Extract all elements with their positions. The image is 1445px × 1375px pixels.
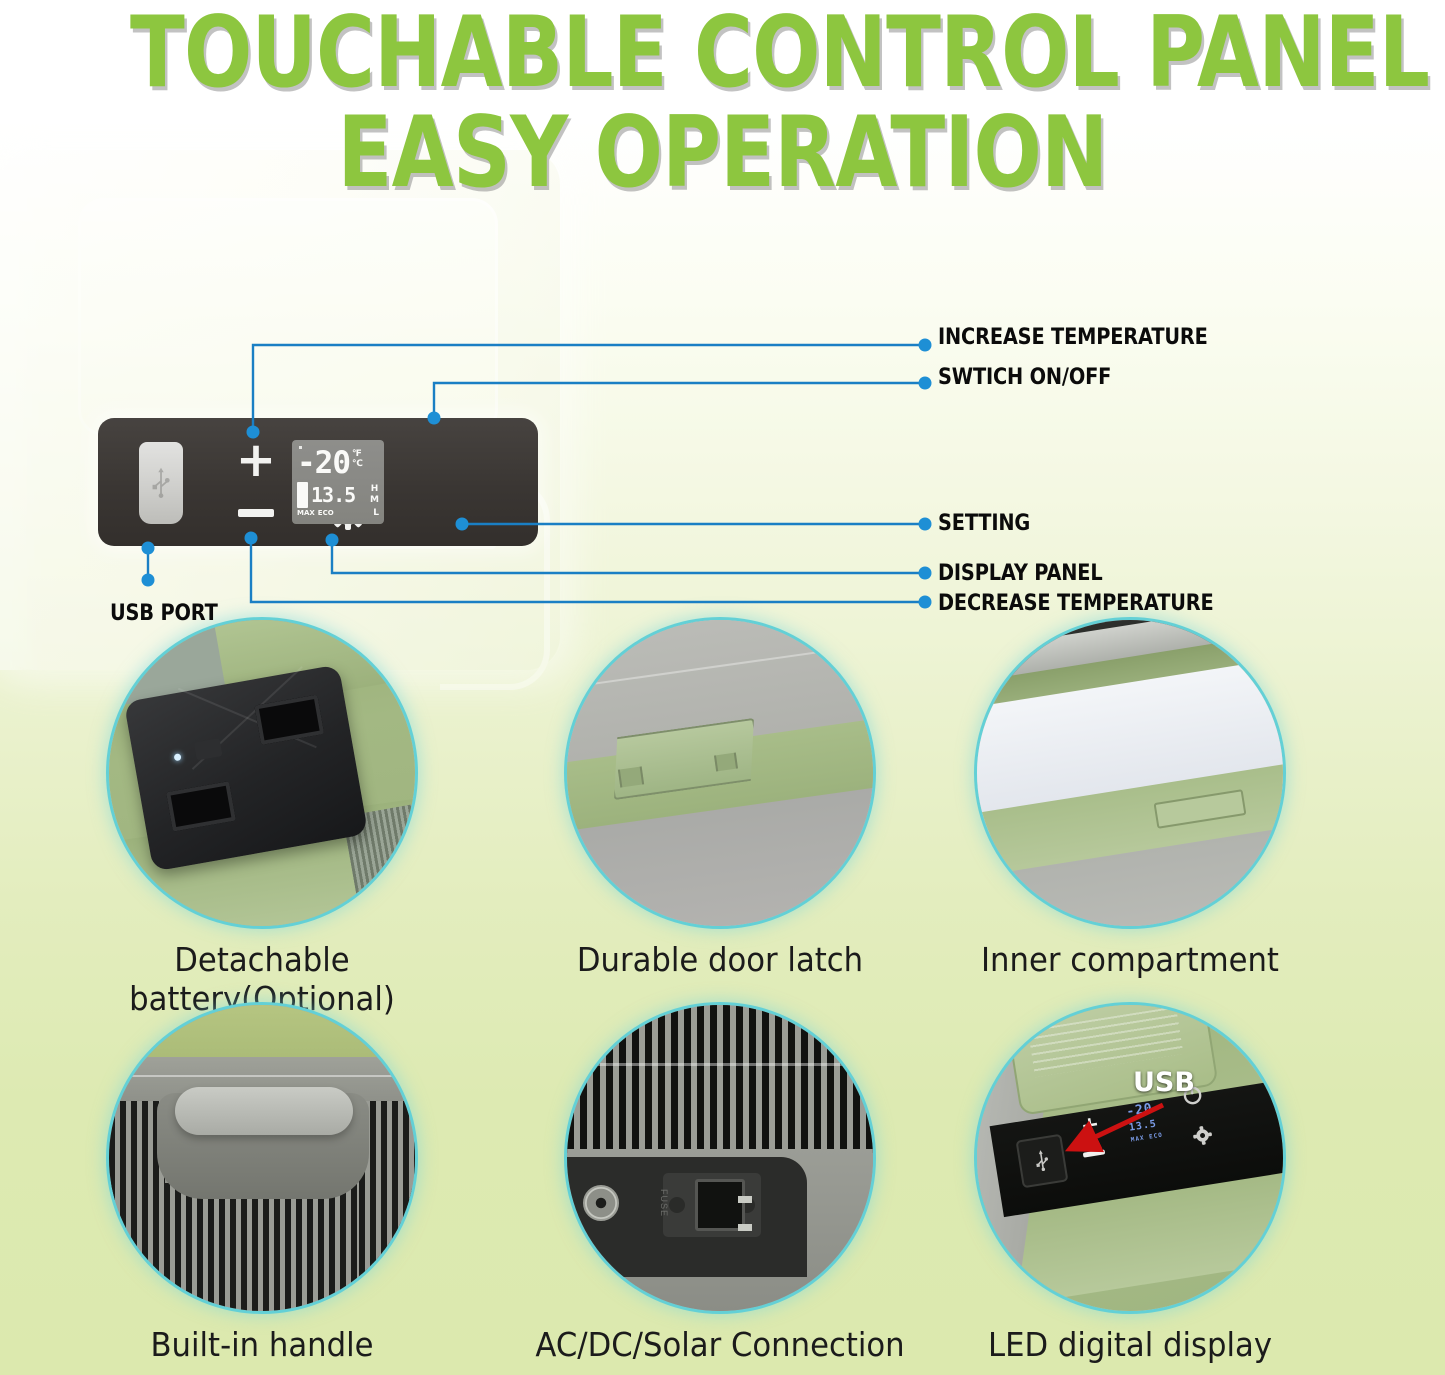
feature-grid: Detachable battery(Optional) Durable doo…: [0, 620, 1445, 1375]
callout-dot-display-target: [919, 567, 932, 580]
power-connection-photo: FUSE: [567, 1005, 873, 1311]
power-vent-slats: [567, 1005, 873, 1153]
feature-image-power: FUSE: [567, 1005, 873, 1311]
callout-label-usb-port: USB PORT: [110, 601, 218, 626]
dc-barrel-jack: [583, 1185, 619, 1221]
usb-pointer-arrow: [977, 1005, 1283, 1311]
callout-line-display-panel: [332, 540, 925, 573]
battery-led-indicator: [174, 753, 182, 761]
callout-lines: [0, 0, 1445, 700]
callout-line-decrease-temperature: [251, 538, 925, 602]
feature-cell-handle: Built-in handle: [42, 1005, 482, 1364]
callout-label-switch-onoff: SWTICH ON/OFF: [938, 365, 1111, 390]
led-display-photo: + -20 13.5 MAX ECO: [977, 1005, 1283, 1311]
latch-notch: [714, 753, 738, 772]
iec-pin: [738, 1196, 752, 1203]
callout-dot-usb-source: [142, 542, 155, 555]
led-usb-annotation: USB: [1133, 1067, 1195, 1098]
fuse-label: FUSE: [659, 1189, 669, 1217]
feature-caption-handle: Built-in handle: [57, 1325, 466, 1364]
callout-dot-decrease-source: [245, 532, 258, 545]
feature-cell-power: FUSE AC/DC/Solar Connection: [500, 1005, 940, 1364]
feature-caption-latch: Durable door latch: [515, 940, 924, 979]
feature-image-led: + -20 13.5 MAX ECO: [977, 1005, 1283, 1311]
callout-dot-switch-source: [428, 412, 441, 425]
iec-screw-hole: [669, 1197, 685, 1213]
handle-seam: [129, 1075, 395, 1077]
callout-line-increase-temperature: [253, 345, 925, 432]
feature-caption-inner: Inner compartment: [925, 940, 1334, 979]
battery-button: [194, 738, 223, 760]
callout-label-setting: SETTING: [938, 511, 1030, 536]
iec-pin: [738, 1224, 752, 1231]
feature-caption-power: AC/DC/Solar Connection: [515, 1325, 924, 1364]
callout-dot-display-source: [326, 534, 339, 547]
ac-iec-inlet: FUSE: [663, 1173, 761, 1237]
latch-notch: [618, 766, 644, 787]
feature-image-handle: [109, 1005, 415, 1311]
power-vent-seam: [567, 1063, 873, 1066]
callout-line-switch-onoff: [434, 383, 925, 418]
callout-dot-increase-source: [247, 426, 260, 439]
callout-dot-usb-target: [142, 574, 155, 587]
iec-socket: [695, 1179, 745, 1231]
callout-dot-switch-target: [919, 377, 932, 390]
callout-dot-decrease-target: [919, 596, 932, 609]
handle-grip: [175, 1087, 353, 1135]
callout-label-decrease-temperature: DECREASE TEMPERATURE: [938, 591, 1214, 616]
callout-dot-setting-target: [919, 518, 932, 531]
feature-cell-led: + -20 13.5 MAX ECO: [910, 1005, 1350, 1364]
feature-caption-led: LED digital display: [925, 1325, 1334, 1364]
callout-label-increase-temperature: INCREASE TEMPERATURE: [938, 325, 1208, 350]
built-in-handle-photo: [109, 1005, 415, 1311]
callout-dot-increase-target: [919, 339, 932, 352]
callout-label-display-panel: DISPLAY PANEL: [938, 561, 1103, 586]
battery-slot: [166, 781, 236, 832]
handle-green-band: [109, 1005, 415, 1063]
callout-dot-setting-source: [456, 518, 469, 531]
